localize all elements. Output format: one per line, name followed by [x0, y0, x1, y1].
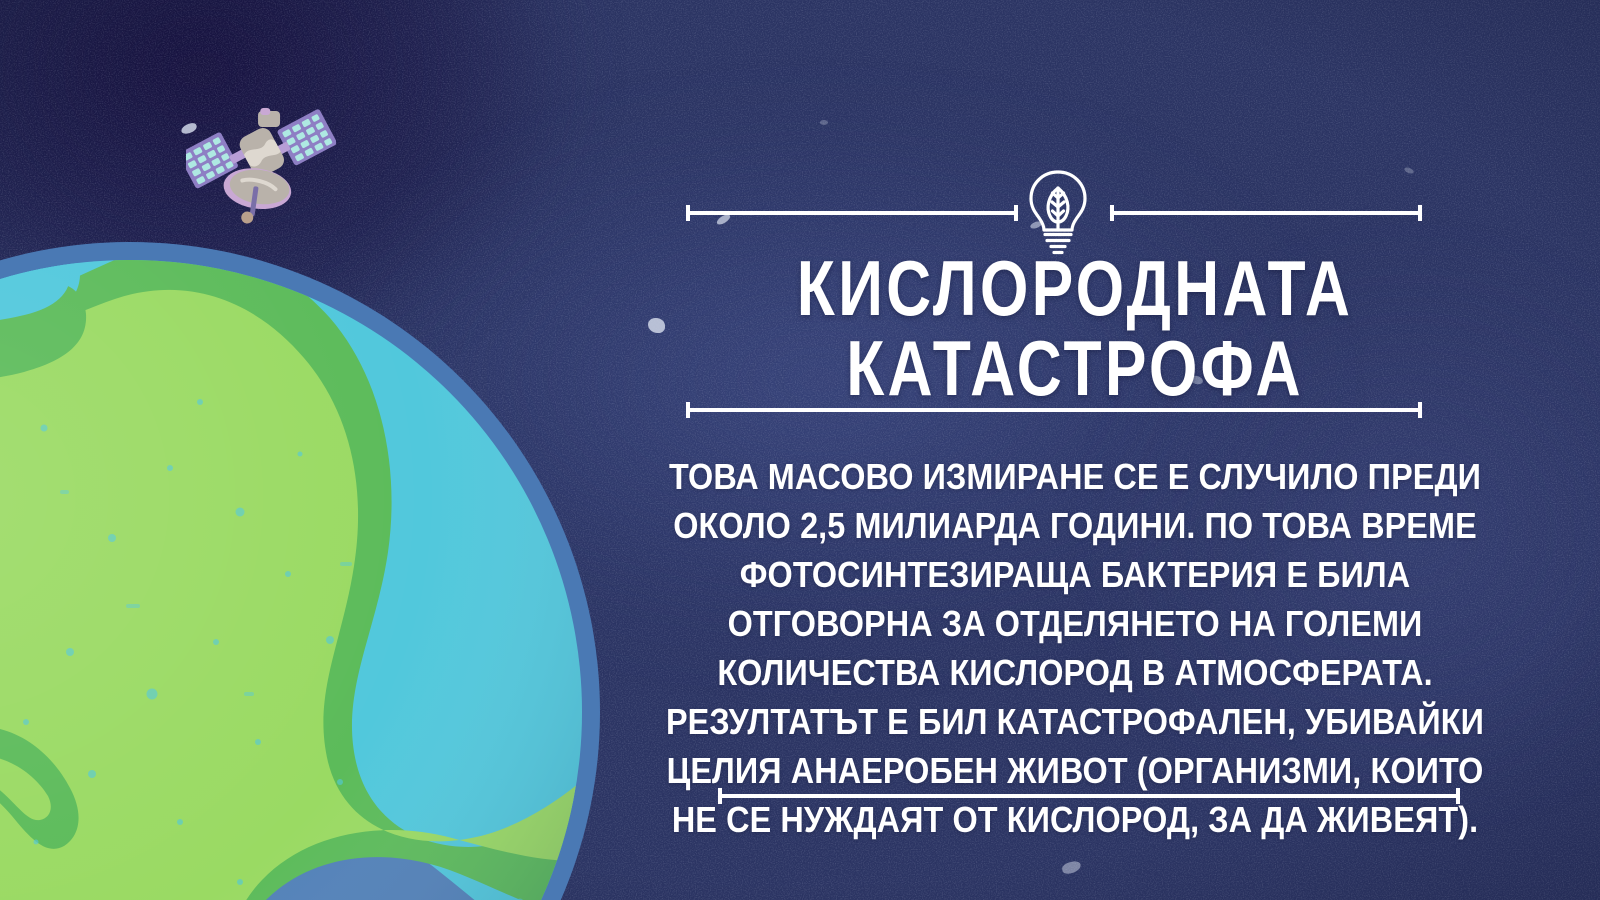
earth-globe-icon [0, 222, 620, 900]
satellite-icon [186, 85, 336, 225]
body-paragraph: ТОВА МАСОВО ИЗМИРАНЕ СЕ Е СЛУЧИЛО ПРЕДИ … [655, 452, 1496, 844]
lightbulb-leaf-icon [1024, 168, 1092, 256]
page-title: КИСЛОРОДНАТА КАТАСТРОФА [695, 248, 1455, 408]
earth-globe-illustration [0, 222, 620, 900]
divider-bottom [718, 794, 1460, 798]
slide-content: КИСЛОРОДНАТА КАТАСТРОФА ТОВА МАСОВО ИЗМИ… [600, 0, 1550, 900]
divider-under-title [686, 408, 1422, 412]
divider-top-right [1110, 211, 1422, 215]
divider-top-left [686, 211, 1018, 215]
slide-canvas: КИСЛОРОДНАТА КАТАСТРОФА ТОВА МАСОВО ИЗМИ… [0, 0, 1600, 900]
